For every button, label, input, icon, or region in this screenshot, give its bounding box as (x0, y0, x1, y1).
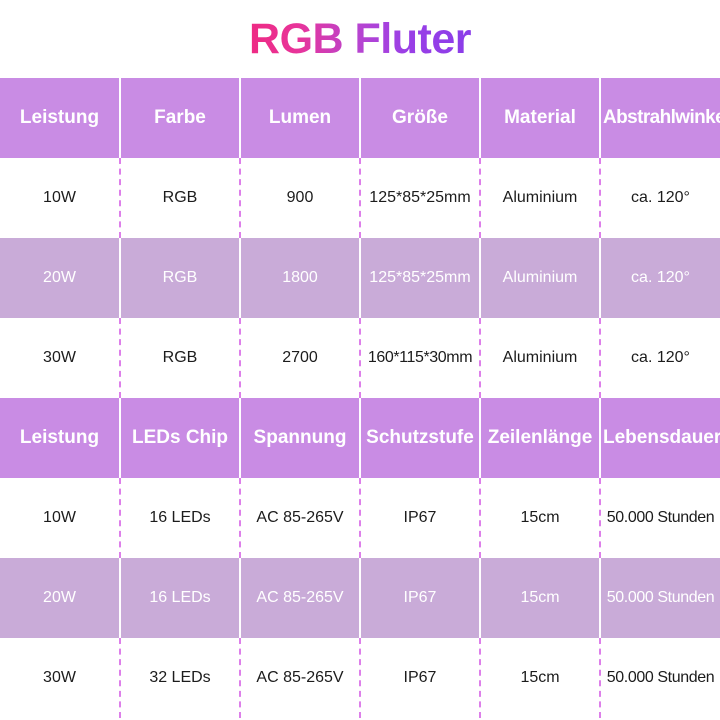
table-cell: 15cm (480, 638, 600, 718)
table-cell: RGB (120, 238, 240, 318)
table-cell: 30W (0, 638, 120, 718)
column-header-zeilenl-nge: Zeilenlänge (480, 398, 600, 478)
table-cell: ca. 120° (600, 238, 720, 318)
table-cell: ca. 120° (600, 158, 720, 238)
table-row: 10W16 LEDsAC 85-265VIP6715cm50.000 Stund… (0, 478, 720, 558)
table-cell: Aluminium (480, 238, 600, 318)
table-cell: 20W (0, 558, 120, 638)
table-cell: Aluminium (480, 318, 600, 398)
table-cell: 32 LEDs (120, 638, 240, 718)
table-cell: IP67 (360, 478, 480, 558)
table-header-row: LeistungFarbeLumenGrößeMaterialAbstrahlw… (0, 78, 720, 158)
table-cell: 15cm (480, 478, 600, 558)
table-cell: 16 LEDs (120, 558, 240, 638)
table-cell: 1800 (240, 238, 360, 318)
title-area: RGB Fluter (0, 0, 720, 78)
column-header-lebensdauer: Lebensdauer (600, 398, 720, 478)
optical-spec-table: LeistungFarbeLumenGrößeMaterialAbstrahlw… (0, 78, 720, 398)
table-cell: 10W (0, 158, 120, 238)
table-header-row: LeistungLEDs ChipSpannungSchutzstufeZeil… (0, 398, 720, 478)
column-header-material: Material (480, 78, 600, 158)
table-cell: AC 85-265V (240, 558, 360, 638)
table-cell: 900 (240, 158, 360, 238)
column-header-leistung: Leistung (0, 398, 120, 478)
table-cell: IP67 (360, 558, 480, 638)
table-cell: 125*85*25mm (360, 158, 480, 238)
table-cell: RGB (120, 318, 240, 398)
table-row: 30WRGB2700160*115*30mmAluminiumca. 120° (0, 318, 720, 398)
table-cell: 30W (0, 318, 120, 398)
table-cell: 50.000 Stunden (600, 478, 720, 558)
column-header-spannung: Spannung (240, 398, 360, 478)
table-cell: IP67 (360, 638, 480, 718)
column-header-leistung: Leistung (0, 78, 120, 158)
table-cell: RGB (120, 158, 240, 238)
table-cell: 125*85*25mm (360, 238, 480, 318)
page-title: RGB Fluter (249, 18, 471, 61)
column-header-schutzstufe: Schutzstufe (360, 398, 480, 478)
table-cell: 15cm (480, 558, 600, 638)
column-header-leds-chip: LEDs Chip (120, 398, 240, 478)
table-row: 20WRGB1800125*85*25mmAluminiumca. 120° (0, 238, 720, 318)
table-row: 10WRGB900125*85*25mmAluminiumca. 120° (0, 158, 720, 238)
column-header-abstrahlwinkel: Abstrahlwinkel (600, 78, 720, 158)
table-cell: 10W (0, 478, 120, 558)
product-spec-sheet: RGB Fluter LeistungFarbeLumenGrößeMateri… (0, 0, 720, 720)
table-cell: AC 85-265V (240, 638, 360, 718)
table-cell: AC 85-265V (240, 478, 360, 558)
table-cell: 20W (0, 238, 120, 318)
table-cell: 50.000 Stunden (600, 558, 720, 638)
table-cell: 16 LEDs (120, 478, 240, 558)
column-header-farbe: Farbe (120, 78, 240, 158)
table-row: 20W16 LEDsAC 85-265VIP6715cm50.000 Stund… (0, 558, 720, 638)
table-cell: 160*115*30mm (360, 318, 480, 398)
table-cell: 50.000 Stunden (600, 638, 720, 718)
electrical-spec-table: LeistungLEDs ChipSpannungSchutzstufeZeil… (0, 398, 720, 718)
column-header-gr-e: Größe (360, 78, 480, 158)
table-row: 30W32 LEDsAC 85-265VIP6715cm50.000 Stund… (0, 638, 720, 718)
table-cell: 2700 (240, 318, 360, 398)
table-cell: ca. 120° (600, 318, 720, 398)
column-header-lumen: Lumen (240, 78, 360, 158)
table-cell: Aluminium (480, 158, 600, 238)
